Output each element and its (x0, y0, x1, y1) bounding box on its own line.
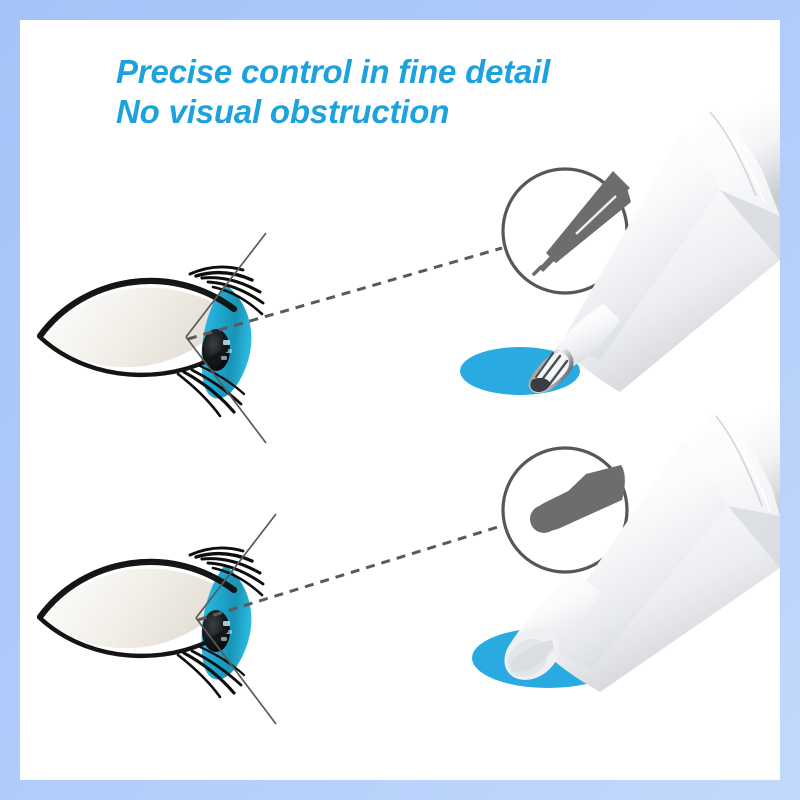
comparison-row-blunt-tip (40, 390, 780, 724)
illustration-artboard (20, 20, 780, 780)
sight-line-icon-bottom (198, 522, 514, 620)
comparison-row-fine-tip (40, 78, 780, 443)
product-feature-poster: Precise control in fine detail No visual… (0, 0, 800, 800)
poster-canvas: Precise control in fine detail No visual… (20, 20, 780, 780)
eye-icon-bottom (40, 548, 263, 697)
